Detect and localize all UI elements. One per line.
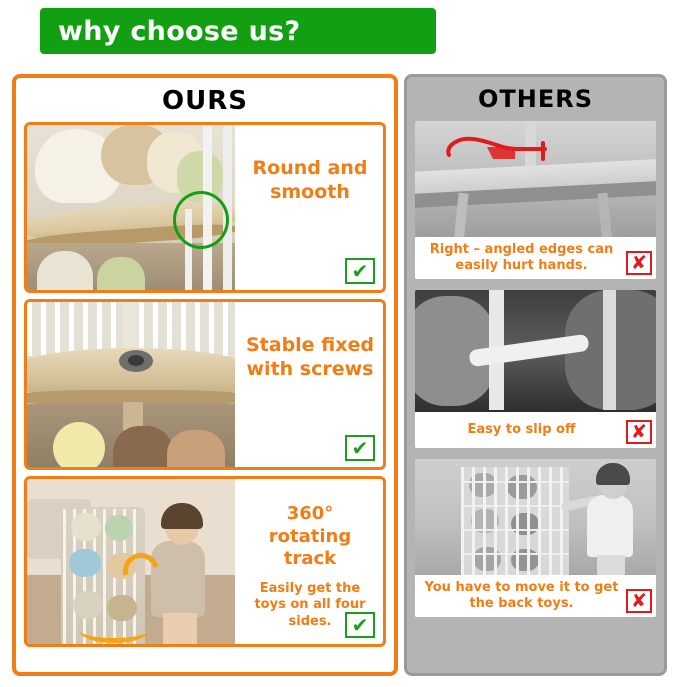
check-icon: ✔ <box>345 435 375 461</box>
ours-row-3: 360° rotating track Easily get the toys … <box>24 476 386 647</box>
ours-row-1-heading: Round and smooth <box>245 157 375 205</box>
pointing-hand-icon <box>443 133 553 173</box>
tube-slipping-off-post-photo <box>415 290 656 412</box>
others-row-1-caption: Right – angled edges can easily hurt han… <box>421 242 622 273</box>
comparison-columns: OURS <box>12 74 667 676</box>
highlight-circle-icon <box>173 191 229 249</box>
others-row-3-caption-wrap: You have to move it to get the back toys… <box>415 575 656 617</box>
others-row-2-caption: Easy to slip off <box>467 422 575 438</box>
cross-icon: ✘ <box>626 251 652 275</box>
ours-row-1-text: Round and smooth ✔ <box>235 125 383 290</box>
ours-row-2: Stable fixed with screws ✔ <box>24 299 386 470</box>
ours-row-1: Round and smooth ✔ <box>24 122 386 293</box>
others-column: OTHERS Right – angled <box>404 74 667 676</box>
comparison-infographic: why choose us? OURS <box>0 0 679 687</box>
ours-column: OURS <box>12 74 398 676</box>
ours-row-3-heading: 360° rotating track <box>245 503 375 571</box>
cross-icon: ✘ <box>626 420 652 444</box>
ours-column-title: OURS <box>20 82 390 122</box>
ours-row-3-text: 360° rotating track Easily get the toys … <box>235 479 383 644</box>
header-banner: why choose us? <box>40 8 436 54</box>
wooden-shelf-with-screw-closeup-photo <box>27 302 235 467</box>
check-icon: ✔ <box>345 612 375 638</box>
others-row-3: You have to move it to get the back toys… <box>413 457 658 619</box>
others-column-title: OTHERS <box>411 81 660 119</box>
others-row-1-caption-wrap: Right – angled edges can easily hurt han… <box>415 237 656 279</box>
cross-icon: ✘ <box>626 589 652 613</box>
girl-reaching-behind-flat-rack-photo <box>415 459 656 575</box>
ours-row-2-heading: Stable fixed with screws <box>245 334 375 382</box>
rotation-arrow-icon <box>79 617 149 643</box>
others-row-3-caption: You have to move it to get the back toys… <box>421 580 622 611</box>
girl-spinning-toy-rack-photo <box>27 479 235 644</box>
check-icon: ✔ <box>345 258 375 284</box>
others-row-2-caption-wrap: Easy to slip off ✘ <box>415 412 656 448</box>
ours-row-2-text: Stable fixed with screws ✔ <box>235 302 383 467</box>
others-row-1: Right – angled edges can easily hurt han… <box>413 119 658 281</box>
others-row-2: Easy to slip off ✘ <box>413 288 658 450</box>
banner-title: why choose us? <box>58 16 300 47</box>
angled-shelf-edge-pointing-hand-photo <box>415 121 656 237</box>
plush-toys-on-round-wooden-shelf-photo <box>27 125 235 290</box>
